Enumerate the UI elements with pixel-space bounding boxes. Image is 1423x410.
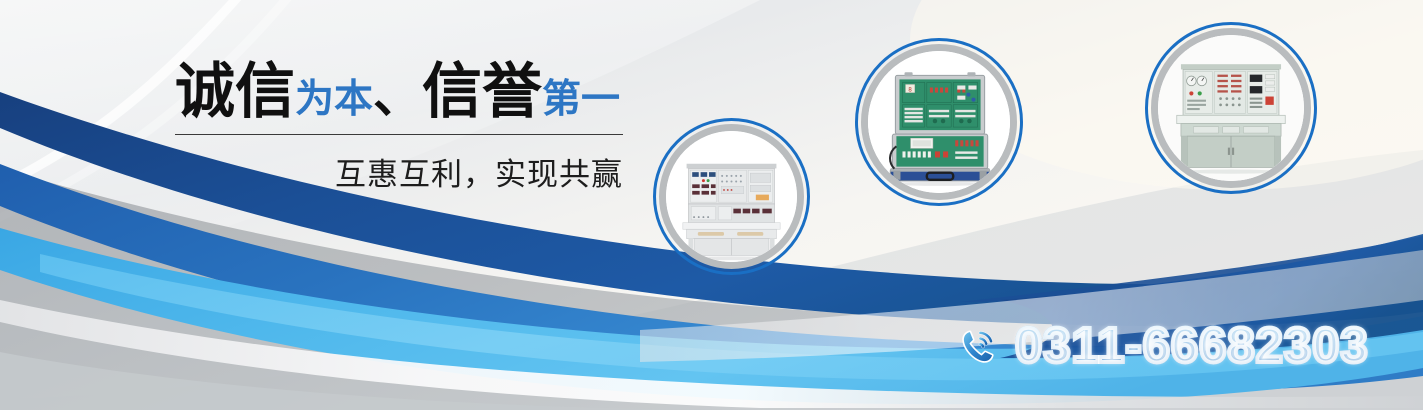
circle-inner-ring: 8 <box>861 44 1017 200</box>
product-circle-3[interactable] <box>1145 22 1317 194</box>
product-image-electrical-machinery-test-bench <box>1158 35 1304 181</box>
contact-phone[interactable]: 0311-66682303 <box>955 322 1369 371</box>
svg-text:8: 8 <box>908 87 912 94</box>
circle-inner-ring <box>659 124 804 269</box>
product-image-portable-circuit-experiment-case: 8 <box>868 51 1010 193</box>
subtitle: 互惠互利，实现共赢 <box>175 149 623 194</box>
headline-part-4: 第一 <box>542 78 620 121</box>
circle-outer-ring <box>1145 22 1317 194</box>
headline-part-2: 为本 <box>295 78 373 121</box>
headline-block: 诚信为本、信誉第一 互惠互利，实现共赢 <box>175 62 645 194</box>
circle-inner-ring <box>1151 28 1311 188</box>
circle-outer-ring: 8 <box>855 38 1023 206</box>
phone-number: 0311-66682303 <box>1015 322 1369 371</box>
headline-part-3: 信誉 <box>422 58 542 125</box>
headline-part-1: 诚信 <box>175 58 295 125</box>
headline-separator: 、 <box>373 69 422 123</box>
phone-ringing-icon <box>955 324 1001 370</box>
product-circle-1[interactable] <box>653 118 810 275</box>
promo-banner: 诚信为本、信誉第一 互惠互利，实现共赢 <box>0 0 1423 410</box>
product-image-electrical-training-workbench <box>666 131 797 262</box>
headline-divider <box>175 134 623 135</box>
page-title: 诚信为本、信誉第一 <box>175 62 645 122</box>
product-circle-2[interactable]: 8 <box>855 38 1023 206</box>
circle-outer-ring <box>653 118 810 275</box>
